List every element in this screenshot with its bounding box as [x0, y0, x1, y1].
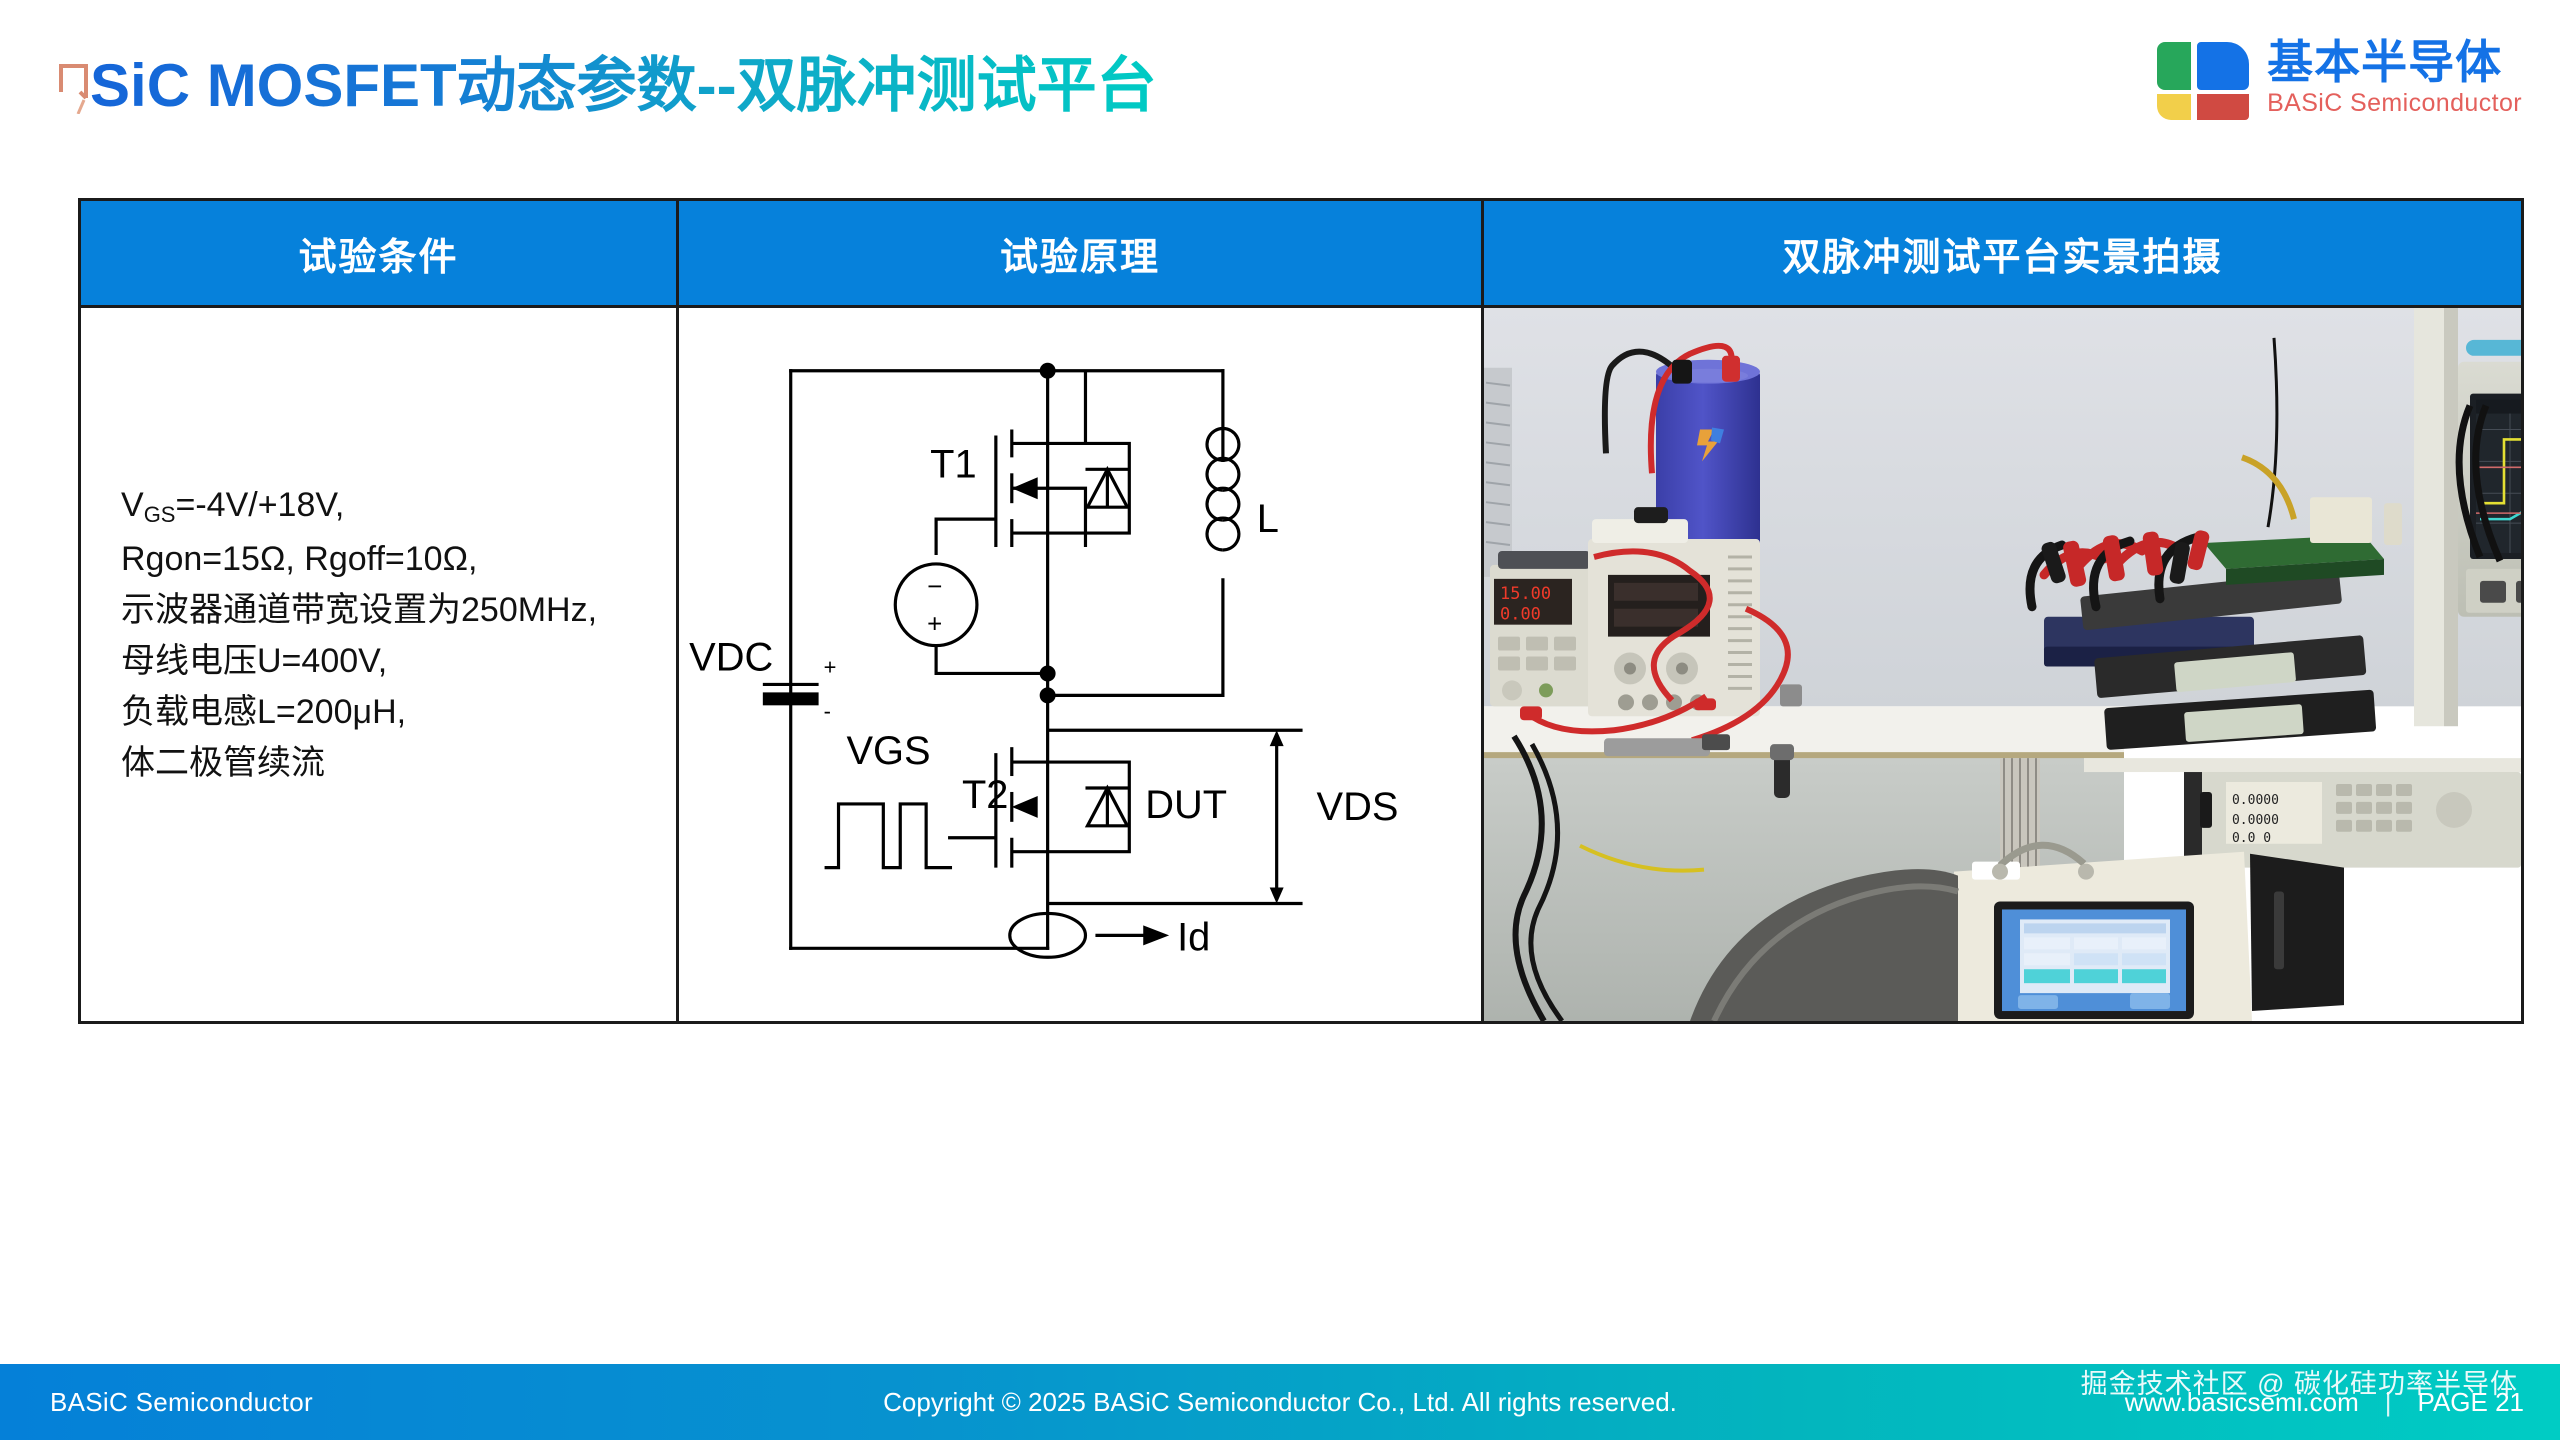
load-readout-2: 0.0000	[2232, 813, 2279, 828]
page-title: SiC MOSFET动态参数--双脉冲测试平台	[90, 48, 1157, 124]
logo-tile-blue	[2197, 42, 2249, 90]
cell-test-platform-photo: 15.00 0.00	[1484, 308, 2521, 1021]
logo-wordmark: 基本半导体 BASiC Semiconductor	[2267, 36, 2522, 118]
condition-line-rg: Rgon=15Ω, Rgoff=10Ω,	[121, 534, 597, 585]
node-top	[1040, 363, 1056, 379]
gate-source-minus: −	[927, 573, 942, 601]
table-header-principle: 试验原理	[679, 201, 1484, 305]
id-label: Id	[1177, 915, 1210, 959]
load-readout-3: 0.0 0	[2232, 831, 2271, 846]
vgs-label: VGS	[846, 729, 930, 773]
condition-line-bandwidth: 示波器通道带宽设置为250MHz,	[121, 585, 597, 636]
table-body-row: VGS=-4V/+18V, Rgon=15Ω, Rgoff=10Ω, 示波器通道…	[81, 308, 2521, 1021]
table-header-conditions: 试验条件	[81, 201, 679, 305]
t1-label: T1	[930, 442, 976, 486]
gate-source-plus: +	[927, 611, 942, 639]
logo-tile-yellow	[2157, 94, 2191, 120]
condition-line-freewheel: 体二极管续流	[121, 738, 597, 789]
footer-watermark: 掘金技术社区 @ 碳化硅功率半导体	[2081, 1362, 2518, 1401]
double-pulse-test-schematic: L VDC + -	[679, 308, 1481, 1021]
vds-label: VDS	[1317, 785, 1399, 829]
logo-name-cn: 基本半导体	[2267, 36, 2502, 88]
logo-tile-green	[2157, 42, 2191, 90]
test-conditions-text: VGS=-4V/+18V, Rgon=15Ω, Rgoff=10Ω, 示波器通道…	[121, 480, 597, 789]
psu-voltage-readout: 15.00	[1500, 583, 1551, 603]
logo-tile-red	[2197, 94, 2249, 120]
load-readout-1: 0.0000	[2232, 793, 2279, 808]
condition-line-vgs: VGS=-4V/+18V,	[121, 480, 597, 534]
node-mid-lower	[1040, 687, 1056, 703]
content-table: 试验条件 试验原理 双脉冲测试平台实景拍摄 VGS=-4V/+18V, Rgon…	[78, 198, 2524, 1024]
table-header-row: 试验条件 试验原理 双脉冲测试平台实景拍摄	[81, 201, 2521, 308]
title-bullet-icon	[58, 62, 92, 114]
vdc-minus: -	[824, 698, 831, 723]
cell-test-principle: L VDC + -	[679, 308, 1484, 1021]
logo-name-en: BASiC Semiconductor	[2267, 88, 2522, 118]
slide-footer: BASiC Semiconductor Copyright © 2025 BAS…	[0, 1364, 2560, 1440]
dut-label: DUT	[1145, 783, 1227, 827]
t2-label: T2	[962, 773, 1008, 817]
company-logo: 基本半导体 BASiC Semiconductor	[2157, 34, 2522, 120]
cell-test-conditions: VGS=-4V/+18V, Rgon=15Ω, Rgoff=10Ω, 示波器通道…	[81, 308, 679, 1021]
inductor-label: L	[1257, 497, 1279, 541]
condition-line-busvoltage: 母线电压U=400V,	[121, 636, 597, 687]
node-mid-upper	[1040, 665, 1056, 681]
vgs-waveform	[825, 804, 952, 868]
logo-mark-icon	[2157, 34, 2249, 120]
psu-current-readout: 0.00	[1500, 604, 1541, 624]
slide-header: SiC MOSFET动态参数--双脉冲测试平台 基本半导体 BASiC Semi…	[0, 0, 2560, 180]
condition-line-inductance: 负载电感L=200μH,	[121, 687, 597, 738]
slide-root: SiC MOSFET动态参数--双脉冲测试平台 基本半导体 BASiC Semi…	[0, 0, 2560, 1440]
table-header-photo: 双脉冲测试平台实景拍摄	[1484, 201, 2521, 305]
lab-bench-photograph: 15.00 0.00	[1484, 308, 2521, 1021]
vdc-plus: +	[824, 654, 837, 679]
vdc-label: VDC	[689, 635, 773, 679]
